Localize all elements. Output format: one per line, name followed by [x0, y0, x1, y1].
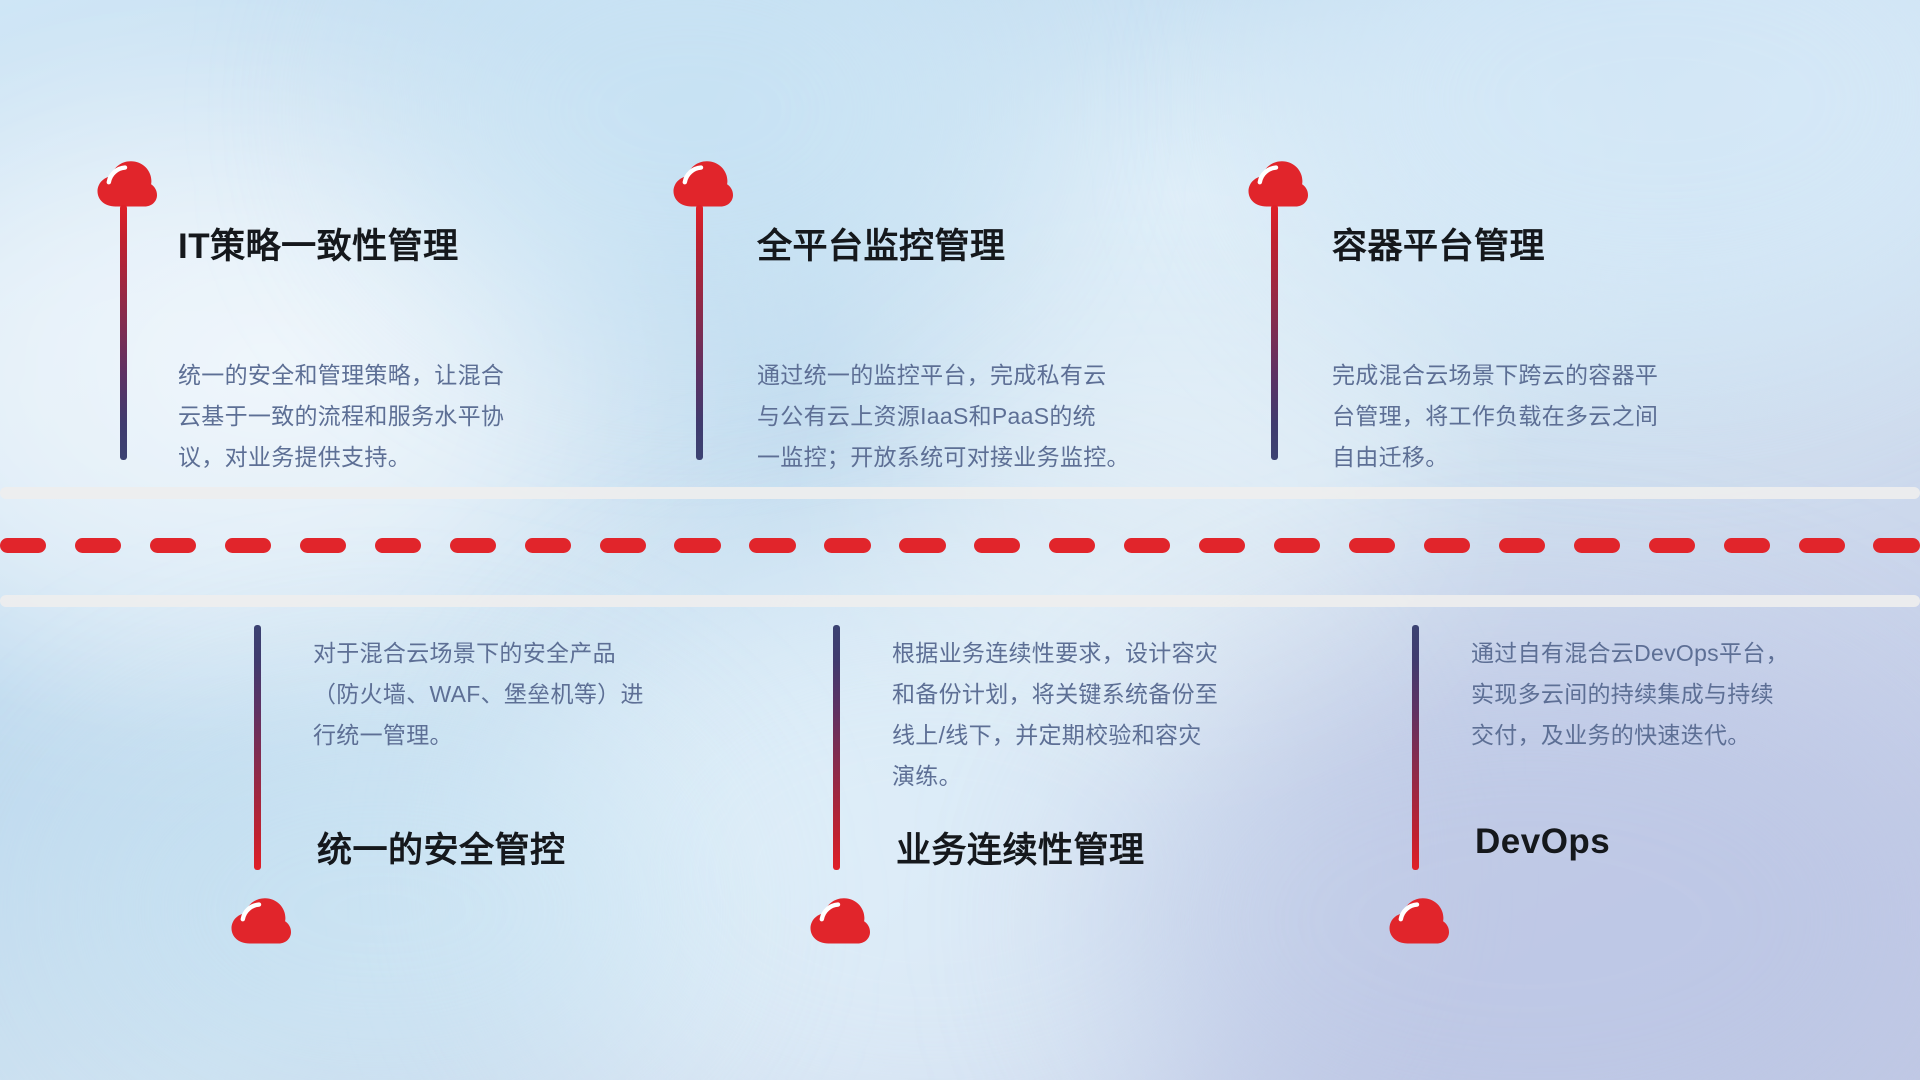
body-line: 交付，及业务的快速迭代。: [1471, 715, 1789, 756]
top-card-title: IT策略一致性管理: [178, 218, 459, 269]
body-line: 台管理，将工作负载在多云之间: [1332, 396, 1658, 437]
divider-dash: [1424, 538, 1470, 553]
connector-stem: [1271, 205, 1278, 460]
divider-dash: [1349, 538, 1395, 553]
bottom-card-body: 根据业务连续性要求，设计容灾 和备份计划，将关键系统备份至 线上/线下，并定期校…: [892, 633, 1218, 797]
body-line: 一监控；开放系统可对接业务监控。: [757, 437, 1130, 478]
divider-dash: [899, 538, 945, 553]
divider-dash: [375, 538, 421, 553]
connector-stem: [120, 205, 127, 460]
body-line: 统一的安全和管理策略，让混合: [178, 355, 504, 396]
body-line: 实现多云间的持续集成与持续: [1471, 674, 1789, 715]
bottom-card-title: DevOps: [1475, 822, 1610, 862]
body-line: 自由迁移。: [1332, 437, 1658, 478]
connector-stem: [1412, 625, 1419, 870]
cloud-icon: [1388, 897, 1450, 945]
divider-dash: [749, 538, 795, 553]
body-line: 线上/线下，并定期校验和容灾: [892, 715, 1218, 756]
background-blob: [60, 700, 700, 1080]
top-card-body: 通过统一的监控平台，完成私有云 与公有云上资源IaaS和PaaS的统 一监控；开…: [757, 355, 1130, 478]
body-line: 对于混合云场景下的安全产品: [313, 633, 644, 674]
top-card-title: 容器平台管理: [1332, 218, 1545, 269]
divider-dash: [1124, 538, 1170, 553]
divider-dash: [974, 538, 1020, 553]
divider-dash: [1873, 538, 1919, 553]
top-card-body: 统一的安全和管理策略，让混合 云基于一致的流程和服务水平协 议，对业务提供支持。: [178, 355, 504, 478]
top-card-title: 全平台监控管理: [757, 218, 1006, 269]
divider-dash: [1724, 538, 1770, 553]
connector-stem: [833, 625, 840, 870]
divider-dash: [525, 538, 571, 553]
divider-dash: [0, 538, 46, 553]
divider-dash: [674, 538, 720, 553]
divider-dash: [1574, 538, 1620, 553]
divider-dash: [300, 538, 346, 553]
divider-dash: [450, 538, 496, 553]
divider-dash: [1274, 538, 1320, 553]
body-line: 根据业务连续性要求，设计容灾: [892, 633, 1218, 674]
bottom-card-title: 统一的安全管控: [317, 822, 566, 873]
divider-rail-top: [0, 487, 1920, 499]
divider-dash: [1049, 538, 1095, 553]
body-line: 云基于一致的流程和服务水平协: [178, 396, 504, 437]
body-line: 行统一管理。: [313, 715, 644, 756]
connector-stem: [696, 205, 703, 460]
bottom-card-body: 通过自有混合云DevOps平台， 实现多云间的持续集成与持续 交付，及业务的快速…: [1471, 633, 1789, 756]
divider-dash: [1799, 538, 1845, 553]
divider-rail-bottom: [0, 595, 1920, 607]
bottom-card-title: 业务连续性管理: [896, 822, 1145, 873]
divider-dash: [824, 538, 870, 553]
cloud-icon: [1247, 160, 1309, 208]
body-line: 通过统一的监控平台，完成私有云: [757, 355, 1130, 396]
cloud-icon: [230, 897, 292, 945]
divider-dash: [1499, 538, 1545, 553]
body-line: （防火墙、WAF、堡垒机等）进: [313, 674, 644, 715]
divider-dash: [600, 538, 646, 553]
divider-dash: [75, 538, 121, 553]
divider-dash: [1199, 538, 1245, 553]
cloud-icon: [96, 160, 158, 208]
cloud-icon: [809, 897, 871, 945]
body-line: 演练。: [892, 756, 1218, 797]
divider-dashes: [0, 537, 1920, 553]
cloud-icon: [672, 160, 734, 208]
body-line: 完成混合云场景下跨云的容器平: [1332, 355, 1658, 396]
top-card-body: 完成混合云场景下跨云的容器平 台管理，将工作负载在多云之间 自由迁移。: [1332, 355, 1658, 478]
infographic-canvas: IT策略一致性管理 统一的安全和管理策略，让混合 云基于一致的流程和服务水平协 …: [0, 0, 1920, 1080]
bottom-card-body: 对于混合云场景下的安全产品 （防火墙、WAF、堡垒机等）进 行统一管理。: [313, 633, 644, 756]
road-divider: [0, 487, 1920, 607]
connector-stem: [254, 625, 261, 870]
divider-dash: [150, 538, 196, 553]
body-line: 通过自有混合云DevOps平台，: [1471, 633, 1789, 674]
background-blob: [1280, 0, 1920, 360]
body-line: 和备份计划，将关键系统备份至: [892, 674, 1218, 715]
body-line: 议，对业务提供支持。: [178, 437, 504, 478]
divider-dash: [1649, 538, 1695, 553]
body-line: 与公有云上资源IaaS和PaaS的统: [757, 396, 1130, 437]
divider-dash: [225, 538, 271, 553]
